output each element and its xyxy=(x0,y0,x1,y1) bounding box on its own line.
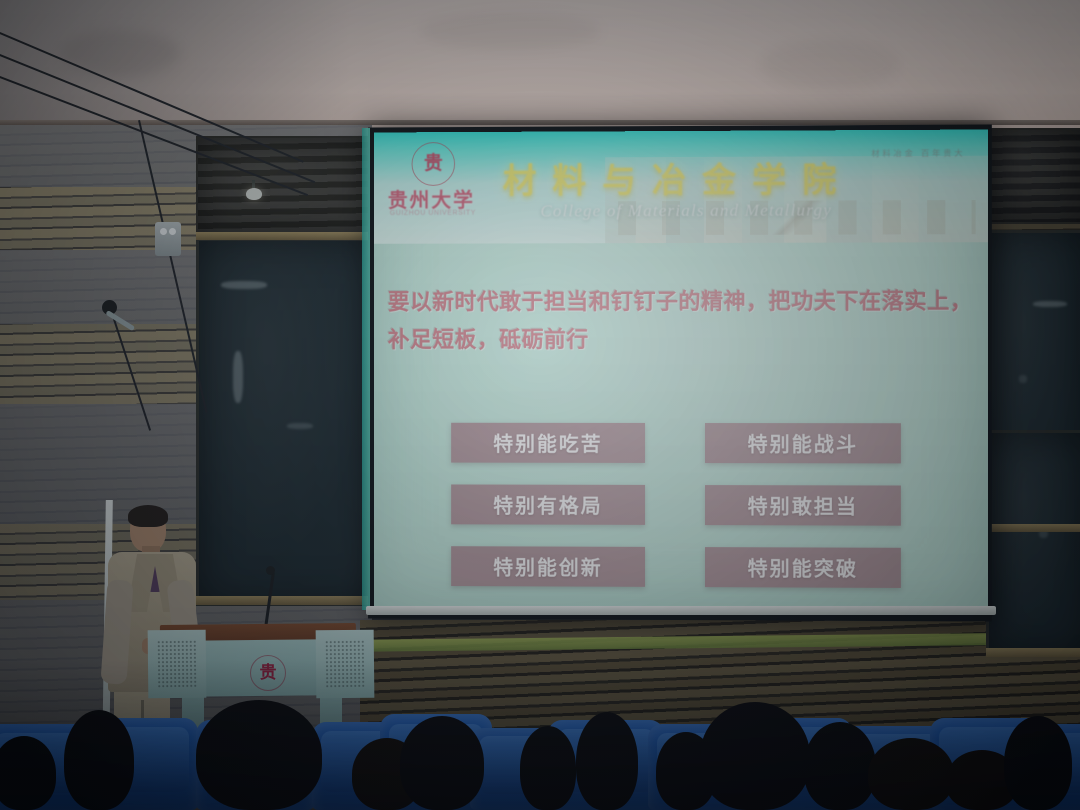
podium-microphone-head xyxy=(266,566,275,575)
blackboard-upper-louvre-left xyxy=(196,136,386,236)
chalk-rail-left-lower xyxy=(196,596,382,605)
chalk-rail-right xyxy=(986,524,1080,532)
slogan-box: 特别能突破 xyxy=(705,547,901,588)
slogan-grid: 特别能吃苦 特别能战斗 特别有格局 特别敢担当 特别能创新 特别能突破 xyxy=(451,423,901,588)
emblem-glyph: 贵 xyxy=(422,152,444,176)
slogan-box: 特别敢担当 xyxy=(705,485,901,526)
audience-head xyxy=(576,712,638,810)
podium-grille-left xyxy=(157,640,198,688)
slogan-box: 特别能吃苦 xyxy=(451,423,645,463)
blackboard-left xyxy=(196,238,388,606)
blackboard-upper-louvre-right xyxy=(986,128,1080,224)
audience-head xyxy=(64,710,134,810)
audience-head xyxy=(700,702,810,810)
slide-header-band: 贵 贵州大学 GUIZHOU UNIVERSITY 材料与冶金学院 Colleg… xyxy=(374,130,988,244)
upper-concrete-wall xyxy=(0,0,1080,128)
university-name-cn: 贵州大学 xyxy=(388,184,497,213)
slogan-box: 特别有格局 xyxy=(451,484,645,524)
college-name-cn: 材料与冶金学院 xyxy=(503,152,853,202)
audience-head xyxy=(1004,716,1072,810)
projected-slide: 贵 贵州大学 GUIZHOU UNIVERSITY 材料与冶金学院 Colleg… xyxy=(374,130,988,611)
podium-grille-right xyxy=(325,640,366,688)
chalk-rail-left-upper xyxy=(196,232,382,240)
audience-head xyxy=(196,700,322,810)
speaker-hair xyxy=(128,505,168,527)
college-name-en: College of Materials and Metallurgy xyxy=(540,200,832,221)
slide-title: 要以新时代敢于担当和钉钉子的精神，把功夫下在落实上，补足短板，砥砺前行 xyxy=(388,282,974,359)
university-logo: 贵 贵州大学 GUIZHOU UNIVERSITY xyxy=(390,140,485,236)
university-name-en: GUIZHOU UNIVERSITY xyxy=(390,210,509,217)
podium-university-seal-icon: 贵 xyxy=(250,655,286,691)
university-emblem-icon: 贵 xyxy=(412,142,456,186)
lecture-hall-photo: 贵 贵州大学 GUIZHOU UNIVERSITY 材料与冶金学院 Colleg… xyxy=(0,0,1080,810)
wall-speaker-icon xyxy=(155,222,181,256)
screen-edge-strip xyxy=(362,128,370,610)
header-handwriting-note: 材料冶金 百年贵大 xyxy=(871,148,965,159)
screen-bottom-roller-bar xyxy=(366,606,996,615)
slogan-box: 特别能创新 xyxy=(451,546,645,587)
audience-head xyxy=(868,738,954,810)
chalk-rail-right-lower xyxy=(986,648,1080,657)
blackboard-right-lower xyxy=(986,430,1080,656)
audience-head xyxy=(520,726,576,810)
wall-lamp-icon xyxy=(246,188,262,200)
audience-head xyxy=(804,722,876,810)
audience-head xyxy=(400,716,484,810)
audience-head xyxy=(0,736,56,810)
slogan-box: 特别能战斗 xyxy=(705,423,901,463)
